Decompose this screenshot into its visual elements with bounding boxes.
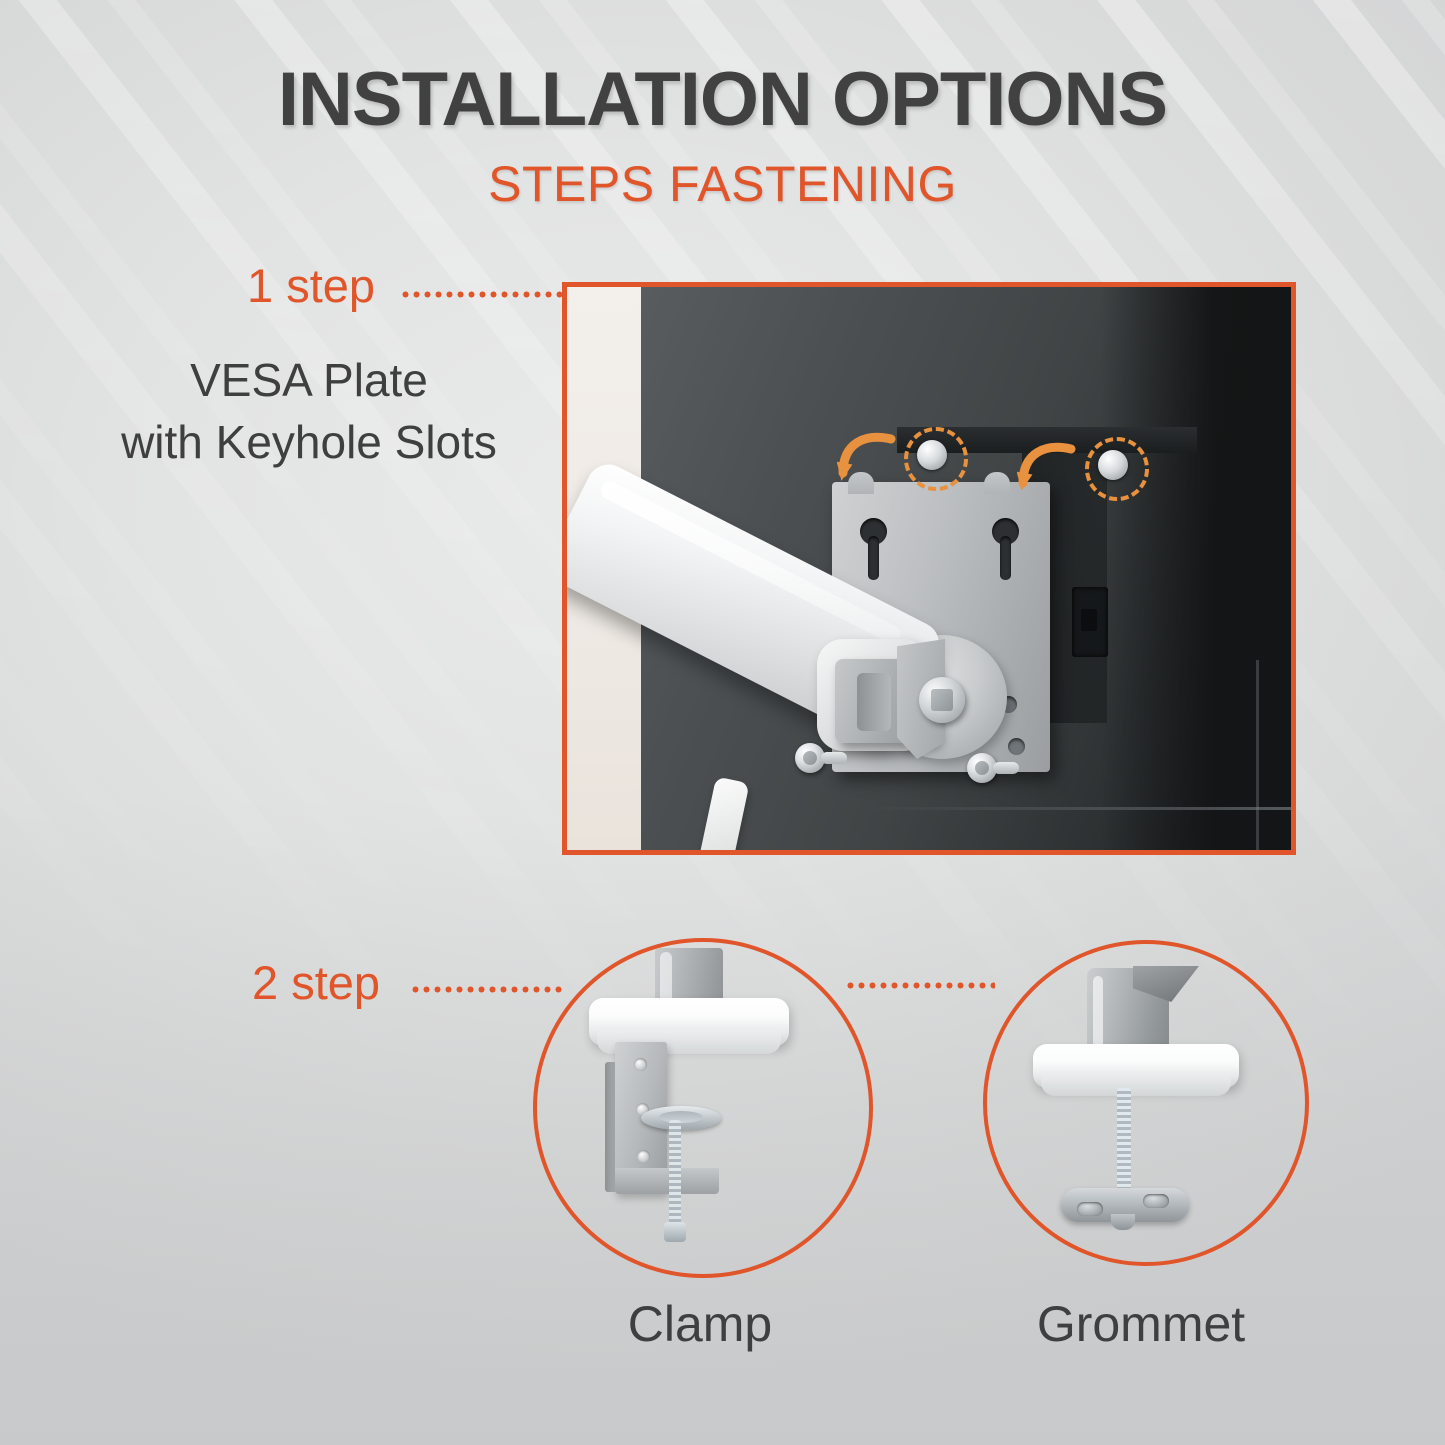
step-1-label: 1 step	[247, 258, 375, 313]
keyhole-slot-left	[860, 518, 887, 580]
clamp-bracket-hole-1	[634, 1058, 647, 1071]
mounting-screw-lower-right	[967, 753, 1019, 783]
screw-shaft	[993, 762, 1019, 774]
keyhole-slot-right	[992, 518, 1019, 580]
keyhole-channel-left	[868, 536, 879, 580]
dashed-circle-screw-left-icon	[904, 427, 968, 491]
vesa-plate-tab-right	[984, 472, 1010, 494]
step-1-connector-dotted-line	[400, 291, 572, 298]
grommet-plate-hole-2	[1143, 1194, 1169, 1208]
infographic-canvas: INSTALLATION OPTIONS STEPS FASTENING 1 s…	[0, 0, 1445, 1445]
page-title: INSTALLATION OPTIONS	[0, 56, 1445, 143]
step-2-label: 2 step	[252, 955, 380, 1010]
clamp-pressure-plate	[641, 1106, 721, 1130]
monitor-panel-shadow-right	[1101, 287, 1291, 850]
clamp-bracket-foot	[615, 1168, 719, 1194]
clamp-option-label: Clamp	[538, 1295, 862, 1353]
monitor-panel-edge	[1256, 660, 1259, 850]
grommet-threaded-bolt	[1117, 1088, 1131, 1200]
clamp-bracket-hole-3	[637, 1150, 650, 1163]
grommet-post-highlight	[1093, 976, 1103, 1054]
clamp-bolt-head	[664, 1222, 686, 1242]
clamp-illustration	[533, 938, 865, 1270]
screw-shaft	[821, 752, 847, 764]
clamp-threaded-bolt	[669, 1120, 681, 1226]
step-1-description: VESA Plate with Keyhole Slots	[70, 350, 548, 473]
pivot-bolt	[919, 677, 965, 723]
grommet-illustration	[983, 940, 1301, 1258]
grommet-option-label: Grommet	[978, 1295, 1304, 1353]
grommet-bolt-end	[1111, 1214, 1135, 1230]
step-2-connector-dotted-line-right	[845, 982, 995, 989]
curved-arrow-right-icon	[1017, 437, 1081, 493]
monitor-port	[1072, 587, 1108, 657]
step-1-description-line-1: VESA Plate	[190, 354, 428, 406]
dashed-circle-screw-right-icon	[1085, 437, 1149, 501]
product-photo-inner	[567, 287, 1291, 850]
grommet-top-pad-underside	[1041, 1074, 1231, 1096]
step-1-description-line-2: with Keyhole Slots	[70, 412, 548, 474]
curved-arrow-left-icon	[837, 427, 901, 483]
keyhole-channel-right	[1000, 536, 1011, 580]
monitor-bottom-edge-line	[867, 807, 1291, 810]
mounting-screw-lower-left	[795, 743, 847, 773]
grommet-plate-hole-1	[1077, 1202, 1103, 1216]
step-1-product-photo	[562, 282, 1296, 855]
page-subtitle: STEPS FASTENING	[0, 155, 1445, 213]
